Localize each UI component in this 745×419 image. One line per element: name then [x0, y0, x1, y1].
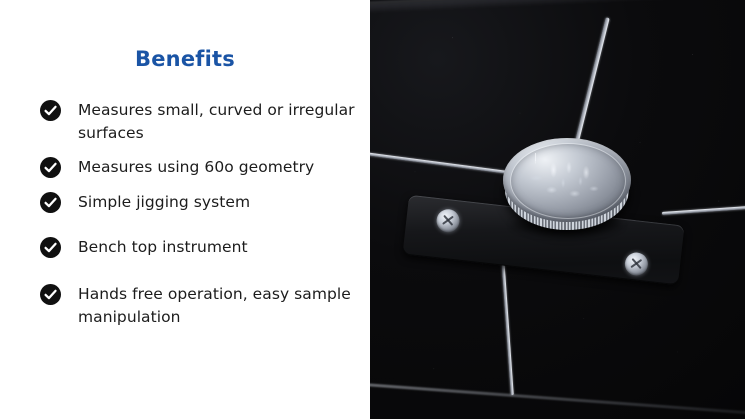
check-circle-icon [40, 157, 61, 178]
bracket-screw-left [435, 208, 460, 233]
list-item: Hands free operation, easy sample manipu… [40, 283, 360, 329]
benefits-panel: Benefits Measures small, curved or irreg… [0, 0, 370, 419]
coin-relief-engraving [519, 149, 615, 211]
check-circle-icon [40, 237, 61, 258]
list-item: Measures using 60o geometry [40, 156, 360, 180]
benefit-text: Measures using 60o geometry [78, 156, 360, 179]
benefits-slide: Benefits Measures small, curved or irreg… [0, 0, 745, 419]
benefit-text: Simple jigging system [78, 191, 360, 214]
check-circle-icon [40, 284, 61, 305]
bracket-screw-right [624, 251, 649, 276]
product-photo [370, 0, 745, 419]
list-item: Bench top instrument [40, 236, 360, 260]
check-circle-icon [40, 100, 61, 121]
list-item: Simple jigging system [40, 191, 360, 215]
benefits-list: Measures small, curved or irregular surf… [40, 99, 360, 340]
check-circle-icon [40, 192, 61, 213]
coin-face [503, 138, 631, 222]
benefit-text: Bench top instrument [78, 236, 360, 259]
list-item: Measures small, curved or irregular surf… [40, 99, 360, 145]
sample-coin [503, 138, 631, 234]
page-title: Benefits [0, 46, 370, 72]
benefit-text: Hands free operation, easy sample manipu… [78, 283, 360, 329]
benefit-text: Measures small, curved or irregular surf… [78, 99, 360, 145]
